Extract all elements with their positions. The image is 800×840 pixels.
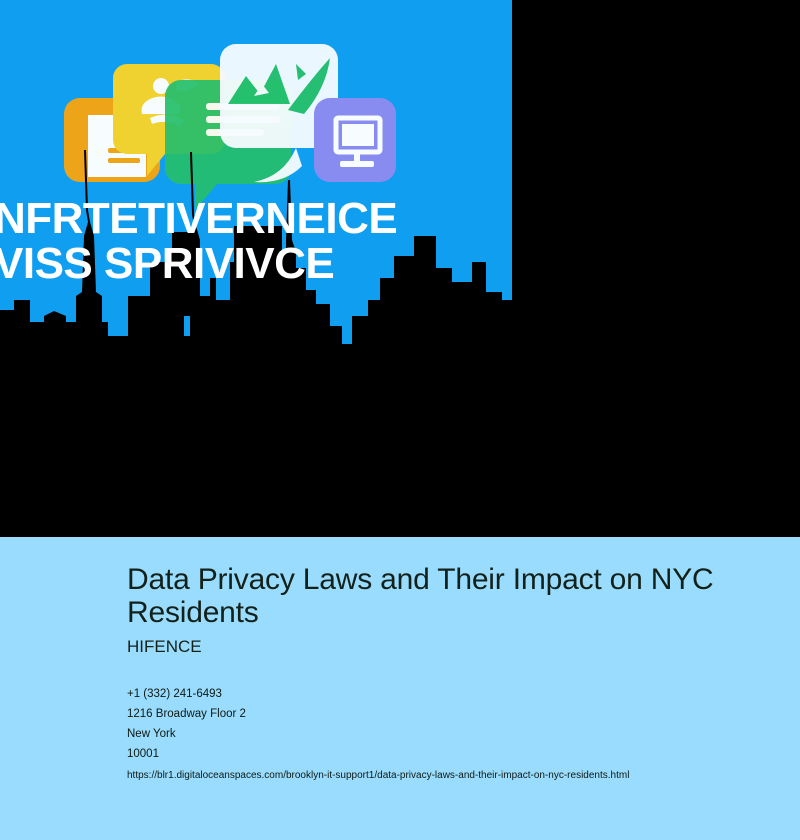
contact-street: 1216 Broadway Floor 2	[127, 704, 747, 724]
brand-name: HIFENCE	[127, 637, 747, 657]
contact-zip: 10001	[127, 744, 747, 764]
contact-phone: +1 (332) 241-6493	[127, 684, 747, 704]
hero-headline-line2: VISS SPRIVIVCE	[0, 241, 512, 286]
page-title: Data Privacy Laws and Their Impact on NY…	[127, 563, 747, 629]
page-root: NFRTETIVERNEICE VISS SPRIVIVCE Data Priv…	[0, 0, 800, 840]
info-content: Data Privacy Laws and Their Impact on NY…	[127, 563, 747, 784]
hero-headline: NFRTETIVERNEICE VISS SPRIVIVCE	[0, 196, 512, 286]
hero-banner: NFRTETIVERNEICE VISS SPRIVIVCE	[0, 0, 512, 537]
info-panel: Data Privacy Laws and Their Impact on NY…	[0, 537, 800, 840]
monitor-tile	[314, 98, 396, 182]
contact-block: +1 (332) 241-6493 1216 Broadway Floor 2 …	[127, 684, 747, 764]
contact-city: New York	[127, 724, 747, 744]
source-url[interactable]: https://blr1.digitaloceanspaces.com/broo…	[127, 768, 747, 784]
hero-headline-line1: NFRTETIVERNEICE	[0, 194, 397, 243]
hero-right-gutter	[512, 0, 800, 537]
